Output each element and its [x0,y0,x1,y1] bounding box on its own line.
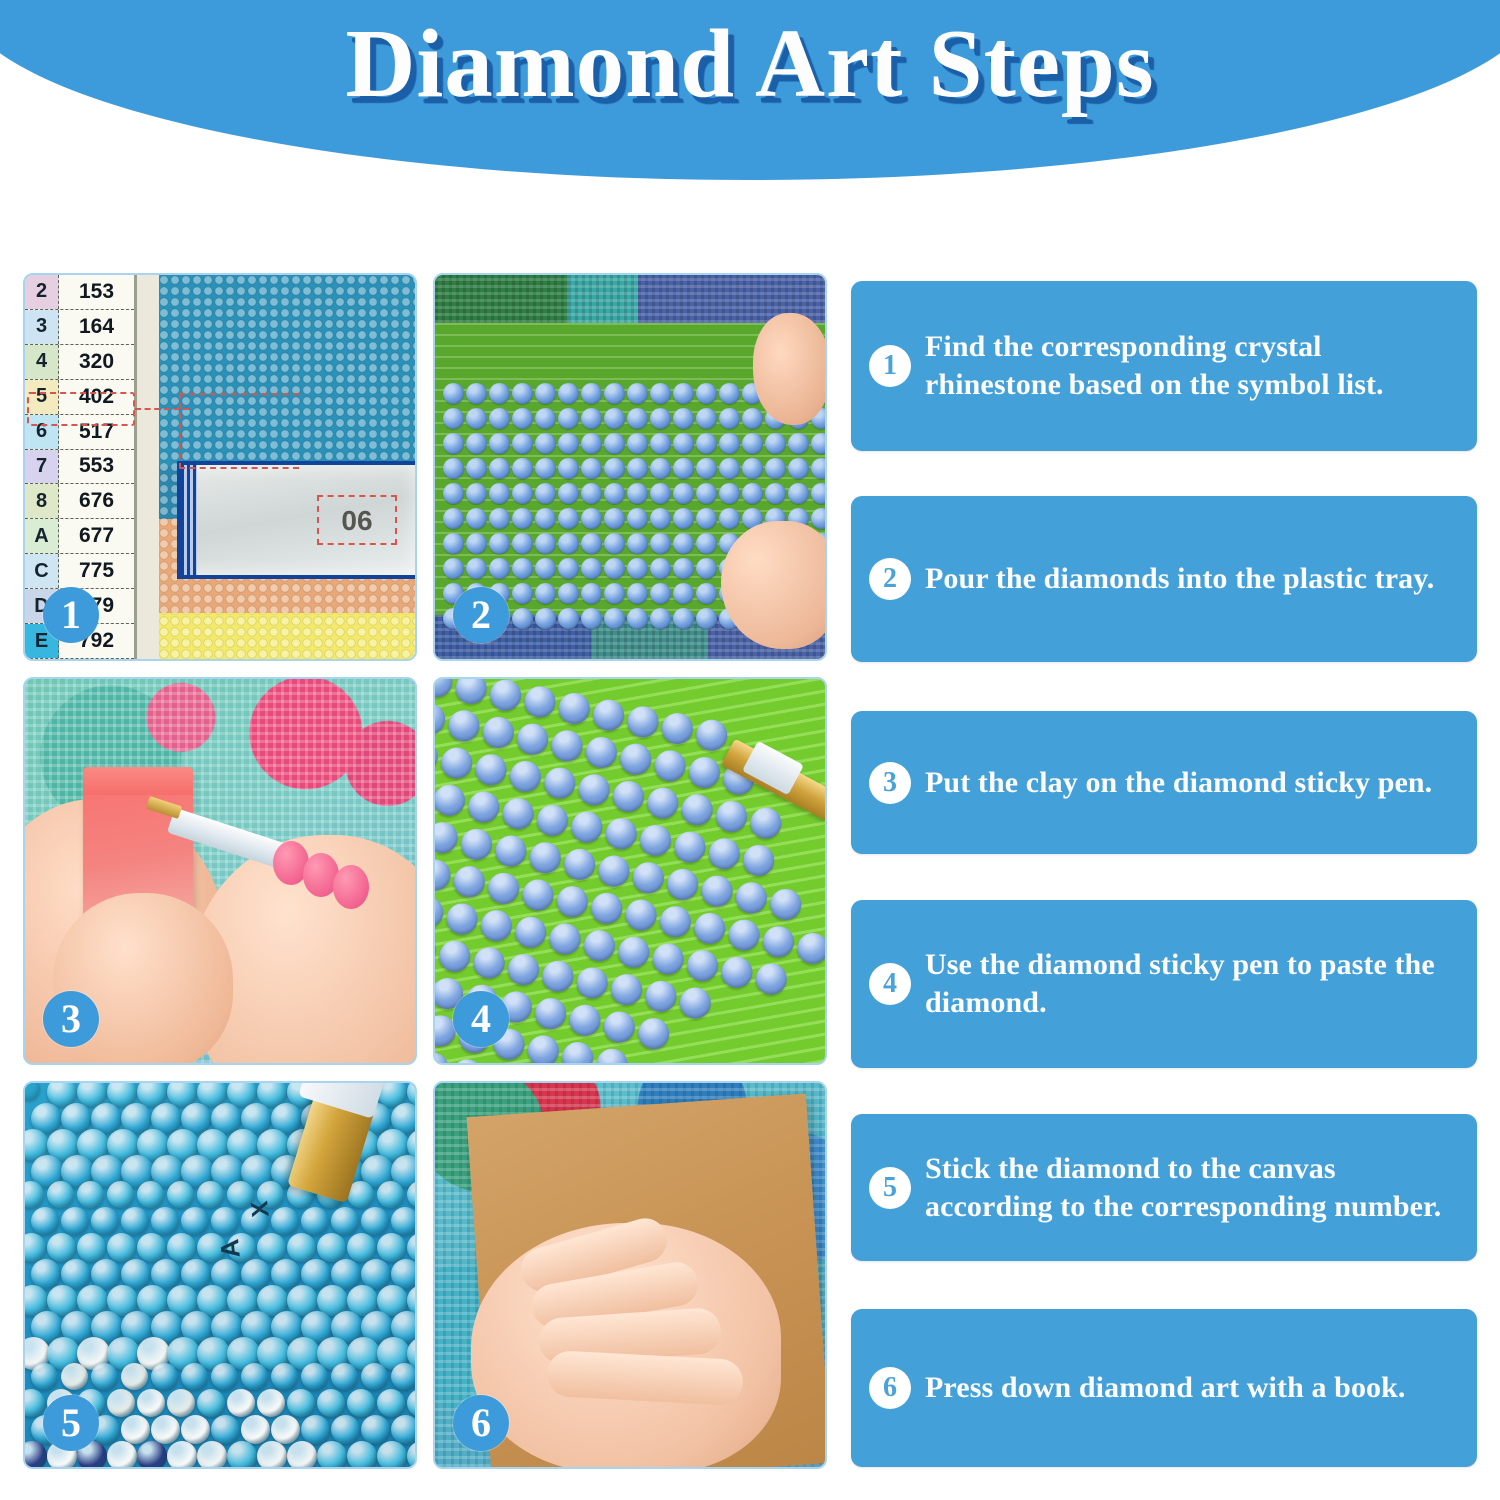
diamond [811,458,827,479]
diamond [91,1207,119,1235]
diamond [673,558,694,579]
diamond [513,914,549,950]
diamond [627,383,648,404]
diamond [630,859,666,895]
diamond [486,870,522,906]
diamond [554,883,590,919]
diamond [673,533,694,554]
diamond [581,433,602,454]
diamond [453,677,489,706]
diamond [673,383,694,404]
diamond [719,508,740,529]
diamond-row [443,431,827,456]
diamond [489,558,510,579]
diamond [540,958,576,994]
diamond [480,714,516,750]
diamond [542,764,578,800]
diamond [558,483,579,504]
diamond [679,791,715,827]
diamond [742,458,763,479]
diamond [471,944,507,980]
diamond [603,815,639,851]
diamond [407,1389,417,1417]
diamond [512,458,533,479]
diamond [741,842,777,878]
diamond [181,1415,210,1444]
diamond [549,727,585,763]
diamond [627,508,648,529]
diamond [489,408,510,429]
diamond [558,433,579,454]
diamond [673,433,694,454]
diamond [581,508,602,529]
diamond [377,1441,407,1469]
photo-badge-2: 2 [453,587,509,643]
diamond [788,458,809,479]
diamond [23,1181,44,1208]
diamond [121,1415,150,1444]
diamond [627,408,648,429]
symbol-cell: C [25,554,59,588]
diamond [271,1415,300,1444]
diamond [533,995,569,1031]
code-cell: 164 [59,310,134,344]
diamond [493,832,529,868]
diamond [377,1389,405,1417]
diamond [604,583,625,604]
diamond [581,927,617,963]
symbol-cell: 2 [25,275,59,309]
diamond [77,1181,104,1208]
photo-step-5[interactable]: A X 5 [23,1081,417,1469]
diamond [583,734,619,770]
diamond [287,1233,316,1262]
diamond [121,1207,149,1235]
diamond [211,1363,238,1390]
step-number-2: 2 [869,558,911,600]
diamond [665,866,701,902]
diamond [650,458,671,479]
diamond [443,558,464,579]
header-banner: Diamond Art Steps [0,0,1500,180]
diamond [478,907,514,943]
code-cell: 775 [59,554,134,588]
diamond [558,458,579,479]
diamond [604,458,625,479]
diamond [768,886,804,922]
steps-list: 1 Find the corresponding crystal rhinest… [851,281,1477,1467]
diamond [167,1233,196,1262]
diamond [643,978,679,1014]
diamond [197,1389,225,1417]
diamond [604,533,625,554]
diamond [433,856,453,892]
symbol-row: 7553 [25,450,134,485]
diamond [673,408,694,429]
diamond [439,744,475,780]
symbol-row: 2153 [25,275,134,310]
diamond [604,608,625,629]
diamond [748,805,784,841]
diamond [657,903,693,939]
diamond [788,483,809,504]
diamond [604,383,625,404]
diamond-row [433,1063,822,1065]
diamond [227,1441,257,1469]
diamond [512,608,533,629]
step-item-1[interactable]: 1 Find the corresponding crystal rhinest… [851,281,1477,451]
diamond [535,433,556,454]
diamond [151,1207,179,1235]
diamond [443,508,464,529]
photo-badge-1: 1 [43,587,99,643]
photo-step-2[interactable]: 2 [433,273,827,661]
diamond [31,1207,59,1235]
diamond [765,433,786,454]
diamond [650,483,671,504]
diamond [610,778,646,814]
diamond-row [443,481,827,506]
code-cell: 320 [59,345,134,379]
diamond [512,508,533,529]
symbol-row: A677 [25,519,134,554]
photo-step-6[interactable]: 6 [433,1081,827,1469]
diamond [719,458,740,479]
diamond [137,1389,165,1417]
diamond [489,383,510,404]
diamond [535,558,556,579]
diamond [569,808,605,844]
diamond [581,483,602,504]
diamond [407,1233,417,1262]
diamond [636,1015,672,1051]
step-item-6[interactable]: 6 Press down diamond art with a book. [851,1309,1477,1467]
diamond [556,690,592,726]
canvas-symbol-x: X [246,1200,276,1219]
diamond [627,458,648,479]
diamond [443,433,464,454]
diamond [535,408,556,429]
diamond [696,458,717,479]
diamond [627,533,648,554]
diamond [562,846,598,882]
diamond [650,533,671,554]
diamond [609,971,645,1007]
symbol-row: 3164 [25,310,134,345]
diamond [673,608,694,629]
diamond [673,458,694,479]
diamond [433,700,448,736]
diamond [558,383,579,404]
diamond [625,703,661,739]
photo-badge-6: 6 [453,1395,509,1451]
symbol-row: 4320 [25,345,134,380]
diamond [197,1181,224,1208]
diamond [534,802,570,838]
diamond [23,1233,46,1262]
diamond [650,583,671,604]
diamond [696,433,717,454]
step-number-1: 1 [869,345,911,387]
diamond [696,508,717,529]
diamond [446,707,482,743]
diamond [627,583,648,604]
code-cell: 153 [59,275,134,309]
photo-badge-4: 4 [453,991,509,1047]
diamond [137,1181,164,1208]
diamond [227,1389,255,1417]
diamond [567,1002,603,1038]
diamond [699,872,735,908]
highlight-box [27,392,135,426]
diamond [466,533,487,554]
canvas-symbol-a: A [214,1238,247,1260]
diamond [181,1363,208,1390]
diamond [443,483,464,504]
diamond [271,1363,298,1390]
diamond [443,458,464,479]
diamond [696,483,717,504]
diamond [616,934,652,970]
diamond [512,558,533,579]
diamond [473,751,509,787]
diamond [449,1056,485,1065]
diamond [627,433,648,454]
diamond [535,458,556,479]
diamond [596,852,632,888]
diamond [512,583,533,604]
diamond [489,433,510,454]
photo-step-1[interactable]: 06 2153316443205402651775538676A677C775D… [23,273,417,661]
diamond [77,1233,106,1262]
diamond [377,1181,404,1208]
diamond [618,740,654,776]
diamond [61,1363,88,1390]
diamond [433,931,439,967]
diamond [47,1181,74,1208]
symbol-cell: 7 [25,450,59,484]
step-item-2[interactable]: 2 Pour the diamonds into the plastic tra… [851,496,1477,662]
diamond [604,483,625,504]
diamond [137,1233,166,1262]
diamond [627,558,648,579]
diamond [107,1441,137,1469]
photo-grid: 06 2153316443205402651775538676A677C775D… [23,273,827,1477]
diamond [91,1363,118,1390]
step-number-4: 4 [869,963,911,1005]
diamond [742,408,763,429]
bag-label: 06 [317,495,397,545]
code-cell: 553 [59,450,134,484]
diamond [512,408,533,429]
diamond [673,483,694,504]
diamond [733,879,769,915]
diamond [677,984,713,1020]
diamond [466,408,487,429]
diamond [652,747,688,783]
diamond [811,483,827,504]
diamond [151,1415,180,1444]
diamond [696,583,717,604]
diamond [466,788,502,824]
diamond [458,826,494,862]
step-text-1: Find the corresponding crystal rhineston… [925,328,1455,404]
diamond [560,1039,596,1065]
diamond [650,558,671,579]
step-text-2: Pour the diamonds into the plastic tray. [925,560,1455,598]
diamond [507,758,543,794]
diamond [512,483,533,504]
pen-grip-3 [333,865,369,909]
diamond [107,1389,135,1417]
diamond [581,583,602,604]
diamond [726,916,762,952]
diamond [512,383,533,404]
diamond [696,608,717,629]
step-text-4: Use the diamond sticky pen to paste the … [925,946,1455,1022]
diamond [23,1389,45,1417]
infographic-page: Diamond Art Steps 06 2153316443205402651… [0,0,1500,1500]
page-title: Diamond Art Steps [0,12,1500,116]
diamond [181,1207,209,1235]
diamond [391,1207,417,1235]
diamond [211,1415,240,1444]
diamond [444,900,480,936]
diamond [672,828,708,864]
symbol-cell: 3 [25,310,59,344]
diamond [512,533,533,554]
diamond [317,1389,345,1417]
diamond [811,508,827,529]
diamond [433,1049,451,1065]
diamond [706,835,742,871]
diamond [437,938,473,974]
photo-step-3[interactable]: 3 [23,677,417,1065]
step-item-5[interactable]: 5 Stick the diamond to the canvas accord… [851,1114,1477,1261]
diamond [686,754,722,790]
diamond [151,1363,178,1390]
diamond [525,1032,561,1065]
diamond [547,920,583,956]
diamond [137,1441,167,1469]
diamond [347,1441,377,1469]
diamond [241,1363,268,1390]
diamond [692,910,728,946]
diamond [719,408,740,429]
diamond [650,508,671,529]
diamond [535,483,556,504]
diamond [650,408,671,429]
diamond [601,1008,637,1044]
finger-top-right [753,313,827,425]
diamond [241,1415,270,1444]
diamond [107,1233,136,1262]
diamond [443,383,464,404]
diamond [515,720,551,756]
diamond [433,819,460,855]
diamond [347,1233,376,1262]
diamond [391,1363,417,1390]
diamond-row [443,456,827,481]
drill-bag: 06 [177,461,415,579]
diamond [694,717,730,753]
symbol-row: C775 [25,554,134,589]
step-text-5: Stick the diamond to the canvas accordin… [925,1150,1455,1226]
diamond [451,863,487,899]
diamond [407,1441,417,1469]
diamond [167,1441,197,1469]
diamond [627,483,648,504]
diamond [591,697,627,733]
code-cell: 676 [59,484,134,518]
step-item-3[interactable]: 3 Put the clay on the diamond sticky pen… [851,711,1477,854]
diamond [604,408,625,429]
step-number-6: 6 [869,1367,911,1409]
code-cell: 677 [59,519,134,553]
diamond [719,483,740,504]
step-item-4[interactable]: 4 Use the diamond sticky pen to paste th… [851,900,1477,1068]
diamond [466,458,487,479]
diamond [167,1389,195,1417]
diamond [558,408,579,429]
diamond [489,508,510,529]
step-number-3: 3 [869,762,911,804]
diamond [581,608,602,629]
diamond [466,558,487,579]
diamond [520,876,556,912]
diamond [604,433,625,454]
symbol-cell: 8 [25,484,59,518]
diamond [211,1207,239,1235]
diamond [594,1046,630,1065]
diamond [347,1389,375,1417]
diamond [581,383,602,404]
diamond [696,408,717,429]
diamond [487,677,523,713]
diamond [489,458,510,479]
diamond [604,558,625,579]
diamond [673,508,694,529]
photo-step-4[interactable]: 4 [433,677,827,1065]
diamond [512,433,533,454]
diamond [753,960,789,996]
diamond [466,508,487,529]
diamond [500,795,536,831]
diamond [466,483,487,504]
diamond [535,508,556,529]
diamond [433,677,455,699]
diamond [489,483,510,504]
diamond [23,1441,47,1469]
diamond [433,894,446,930]
diamond [558,533,579,554]
diamond [760,923,796,959]
diamond [604,508,625,529]
diamond [489,533,510,554]
diamond [466,383,487,404]
diamond [377,1233,406,1262]
diamond [505,951,541,987]
diamond [713,798,749,834]
diamond [623,896,659,932]
diamond [197,1441,227,1469]
diamond [484,1063,520,1065]
diamond [742,483,763,504]
diamond [558,508,579,529]
photo-badge-5: 5 [43,1395,99,1451]
diamond [696,533,717,554]
diamond [696,383,717,404]
